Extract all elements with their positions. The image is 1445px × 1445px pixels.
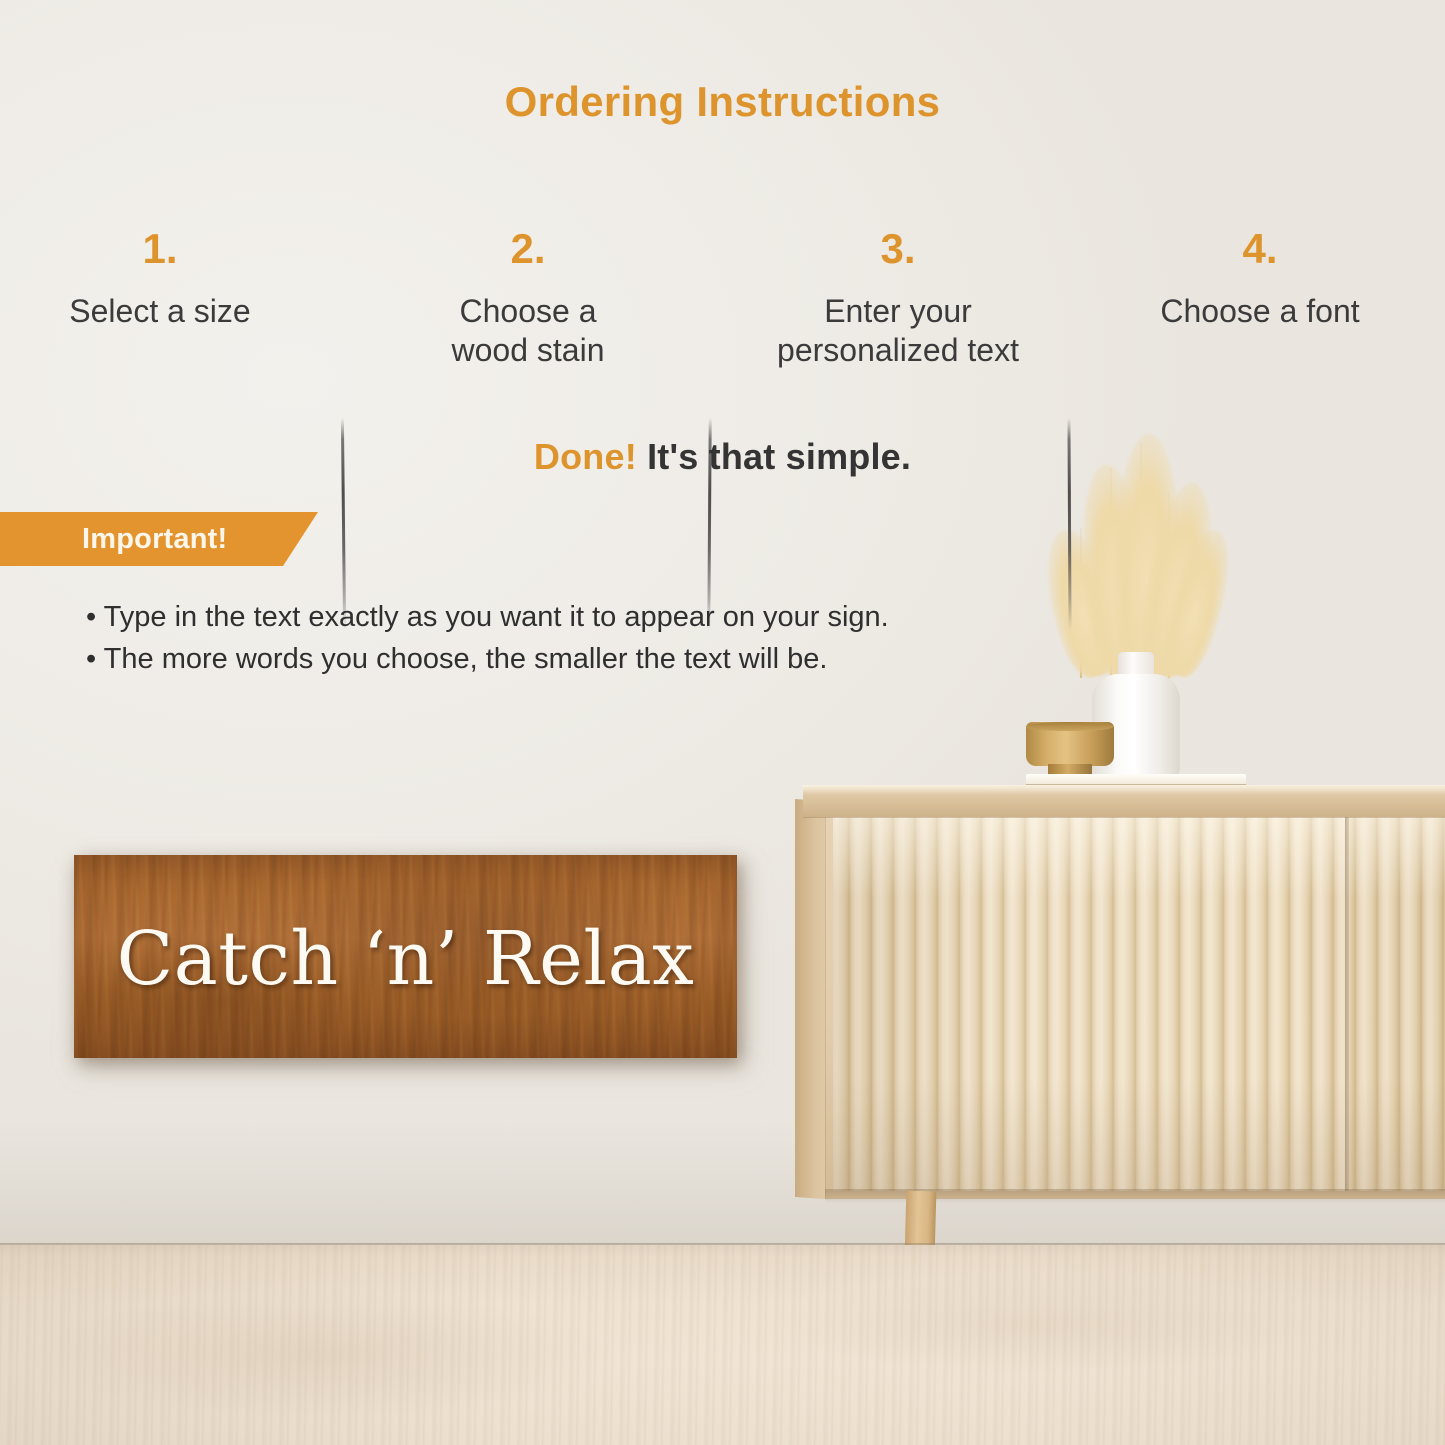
important-bullets: • Type in the text exactly as you want i… [86,596,1126,681]
step-4-label: Choose a font [1110,292,1410,331]
step-1: 1. Select a size [24,228,296,331]
done-highlight: Done! [534,436,637,477]
step-3: 3. Enter your personalized text [742,228,1054,370]
bullet-item: • The more words you choose, the smaller… [86,638,1126,680]
important-banner: Important! [0,512,318,566]
step-2-number: 2. [392,228,664,270]
steps-row: 1. Select a size 2. Choose a wood stain … [0,228,1445,418]
done-rest: It's that simple. [637,436,911,477]
step-3-label: Enter your personalized text [742,292,1054,370]
step-3-number: 3. [742,228,1054,270]
step-2: 2. Choose a wood stain [392,228,664,370]
page-title: Ordering Instructions [0,78,1445,126]
done-tagline: Done! It's that simple. [0,436,1445,478]
step-1-number: 1. [24,228,296,270]
step-4: 4. Choose a font [1110,228,1410,331]
step-4-number: 4. [1110,228,1410,270]
step-2-label: Choose a wood stain [392,292,664,370]
instructions-overlay: Ordering Instructions 1. Select a size 2… [0,0,1445,1445]
important-banner-label: Important! [82,523,227,556]
bullet-item: • Type in the text exactly as you want i… [86,596,1126,638]
step-1-label: Select a size [24,292,296,331]
